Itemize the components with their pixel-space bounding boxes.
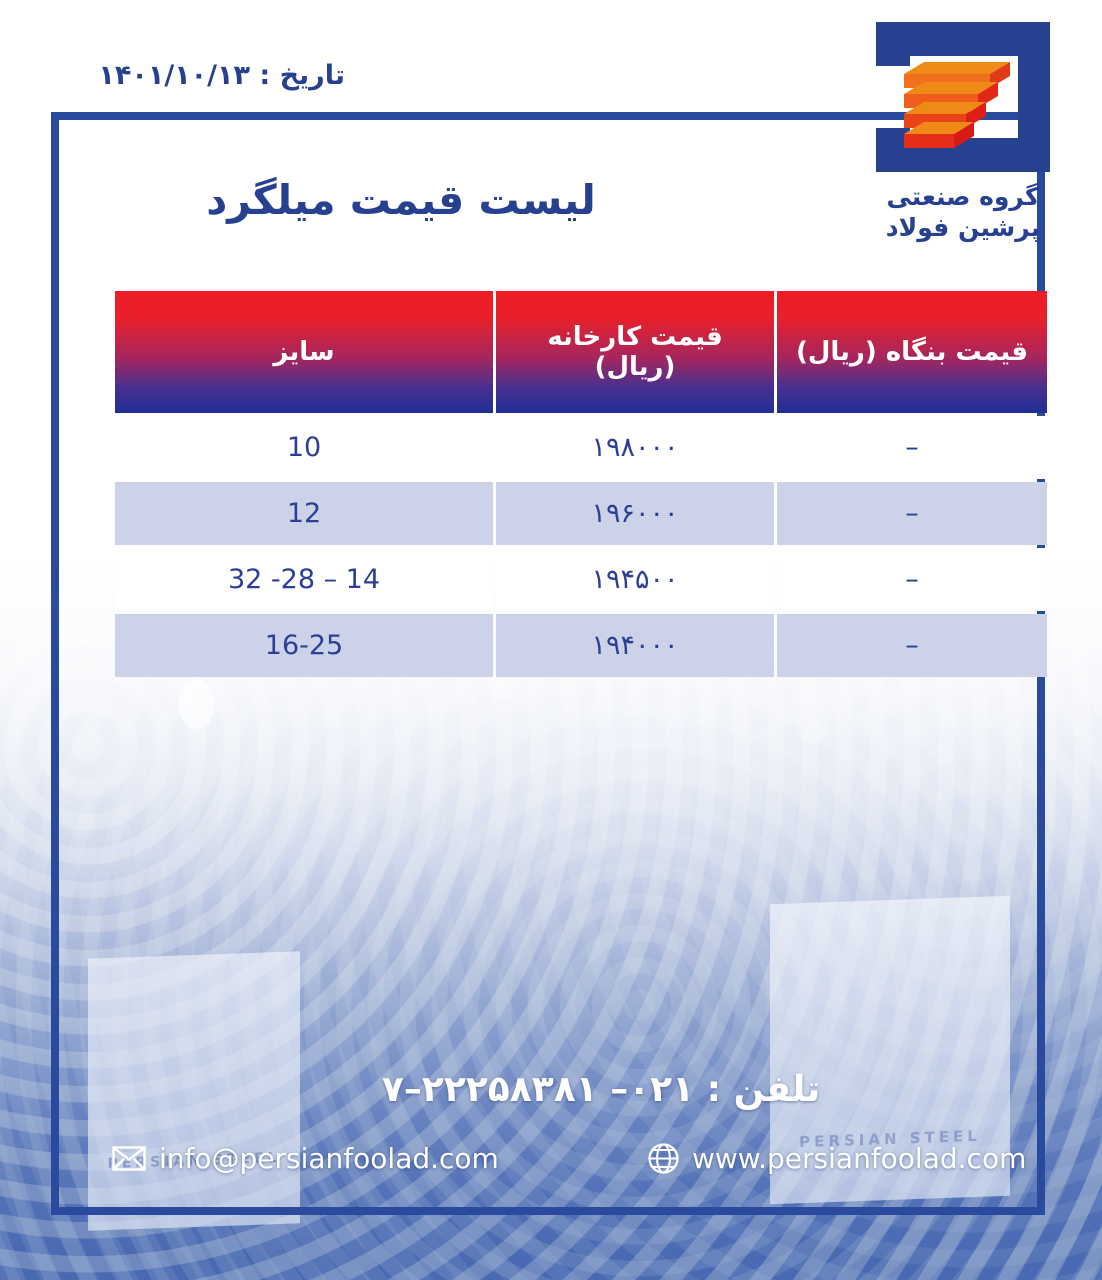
table-row: – ۱۹۴۵۰۰ 14 – 28- 32 — [115, 548, 1047, 611]
column-header-size: سایز — [115, 291, 493, 413]
cell-size: 12 — [115, 482, 493, 545]
cell-size: 14 – 28- 32 — [115, 548, 493, 611]
page-title: لیست قیمت میلگرد — [0, 176, 1102, 224]
cell-factory-price: ۱۹۶۰۰۰ — [496, 482, 774, 545]
cell-factory-price: ۱۹۴۵۰۰ — [496, 548, 774, 611]
cell-factory-price: ۱۹۴۰۰۰ — [496, 614, 774, 677]
table-row: – ۱۹۶۰۰۰ 12 — [115, 482, 1047, 545]
globe-icon — [648, 1143, 679, 1174]
price-table-body: – ۱۹۸۰۰۰ 10 – ۱۹۶۰۰۰ 12 – ۱۹۴۵۰۰ 14 – 28… — [115, 416, 1047, 677]
cell-size: 16-25 — [115, 614, 493, 677]
date-label: تاریخ : ۱۴۰۱/۱۰/۱۳ — [98, 60, 345, 91]
email-contact[interactable]: info@persianfoolad.com — [112, 1142, 499, 1175]
price-table: قیمت بنگاه (ریال) قیمت کارخانه (ریال) سا… — [112, 288, 1050, 680]
cell-bonga-price: – — [777, 614, 1047, 677]
cell-bonga-price: – — [777, 548, 1047, 611]
contact-row: info@persianfoolad.com www.persianfoolad… — [112, 1142, 1002, 1186]
website-contact[interactable]: www.persianfoolad.com — [648, 1142, 1026, 1175]
phone-label: تلفن : ۰۲۱– ۲۲۲۵۸۳۸۱–۷ — [0, 1069, 1102, 1110]
company-logo: گروه صنعتی پرشین فولاد — [848, 18, 1078, 280]
column-header-bonga-price: قیمت بنگاه (ریال) — [777, 291, 1047, 413]
price-list-poster: PERSIAN STEEL PERSIAN STEEL تاریخ : ۱۴۰۱… — [0, 0, 1102, 1280]
table-row: – ۱۹۴۰۰۰ 16-25 — [115, 614, 1047, 677]
column-header-factory-price: قیمت کارخانه (ریال) — [496, 291, 774, 413]
persian-steel-bracket-icon — [870, 18, 1056, 176]
table-row: – ۱۹۸۰۰۰ 10 — [115, 416, 1047, 479]
envelope-icon — [112, 1146, 146, 1171]
cell-bonga-price: – — [777, 482, 1047, 545]
price-table-head: قیمت بنگاه (ریال) قیمت کارخانه (ریال) سا… — [115, 291, 1047, 413]
cell-bonga-price: – — [777, 416, 1047, 479]
price-table-header-row: قیمت بنگاه (ریال) قیمت کارخانه (ریال) سا… — [115, 291, 1047, 413]
email-text: info@persianfoolad.com — [159, 1142, 499, 1175]
cell-size: 10 — [115, 416, 493, 479]
cell-factory-price: ۱۹۸۰۰۰ — [496, 416, 774, 479]
website-text: www.persianfoolad.com — [692, 1142, 1026, 1175]
